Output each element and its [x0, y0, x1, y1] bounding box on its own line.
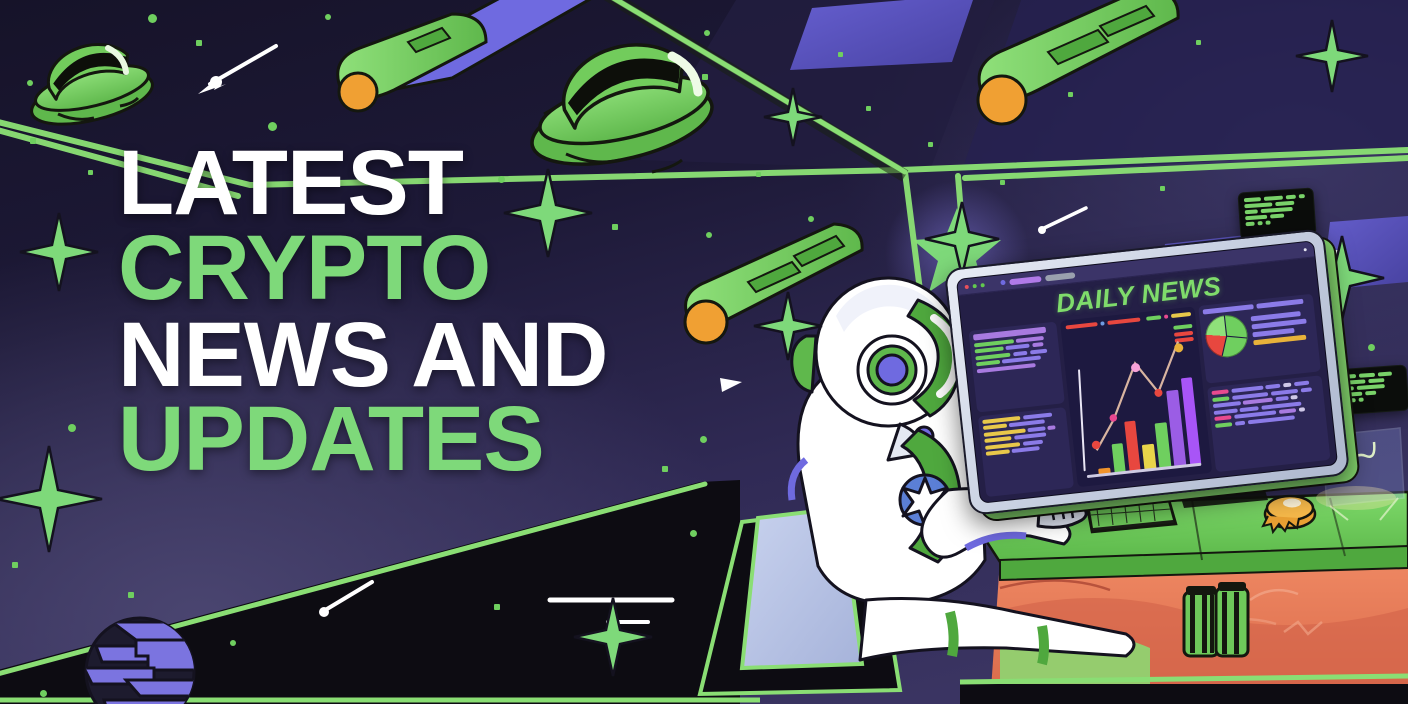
headline-line-3: NEWS AND — [118, 314, 607, 397]
panel-feed-list[interactable] — [1207, 376, 1330, 472]
panel-pie-chart[interactable] — [1198, 294, 1321, 384]
tab-pill-active[interactable] — [1009, 275, 1041, 284]
window-max-dot[interactable] — [980, 283, 984, 287]
tab-pill-inactive[interactable] — [1045, 272, 1075, 281]
chart-line-markers — [1067, 323, 1207, 478]
headline-line-2: CRYPTO — [118, 227, 607, 310]
window-min-dot[interactable] — [972, 283, 976, 287]
chart-panel[interactable] — [1060, 307, 1212, 488]
monitor[interactable]: DAILY NEWS — [944, 228, 1351, 516]
headline-line-4: UPDATES — [118, 398, 607, 481]
tab-indicator-dot — [1000, 280, 1006, 286]
dashboard-center-column — [1060, 307, 1212, 488]
chart-plot-area — [1067, 323, 1207, 478]
headline-block: LATEST CRYPTO NEWS AND UPDATES — [118, 142, 607, 481]
hero-illustration: LATEST CRYPTO NEWS AND UPDATES — [0, 0, 1408, 704]
dashboard-right-column — [1198, 294, 1330, 472]
headline-line-1: LATEST — [118, 142, 607, 225]
window-close-dot[interactable] — [965, 284, 969, 288]
pie-legend-bars — [1250, 306, 1313, 345]
dashboard-left-column — [969, 322, 1074, 498]
pie-chart — [1204, 313, 1250, 359]
panel-stats-list[interactable] — [978, 407, 1074, 498]
chrome-menu-dot[interactable] — [1304, 248, 1307, 251]
panel-article-list[interactable] — [969, 322, 1065, 413]
monitor-screen[interactable]: DAILY NEWS — [956, 240, 1338, 504]
